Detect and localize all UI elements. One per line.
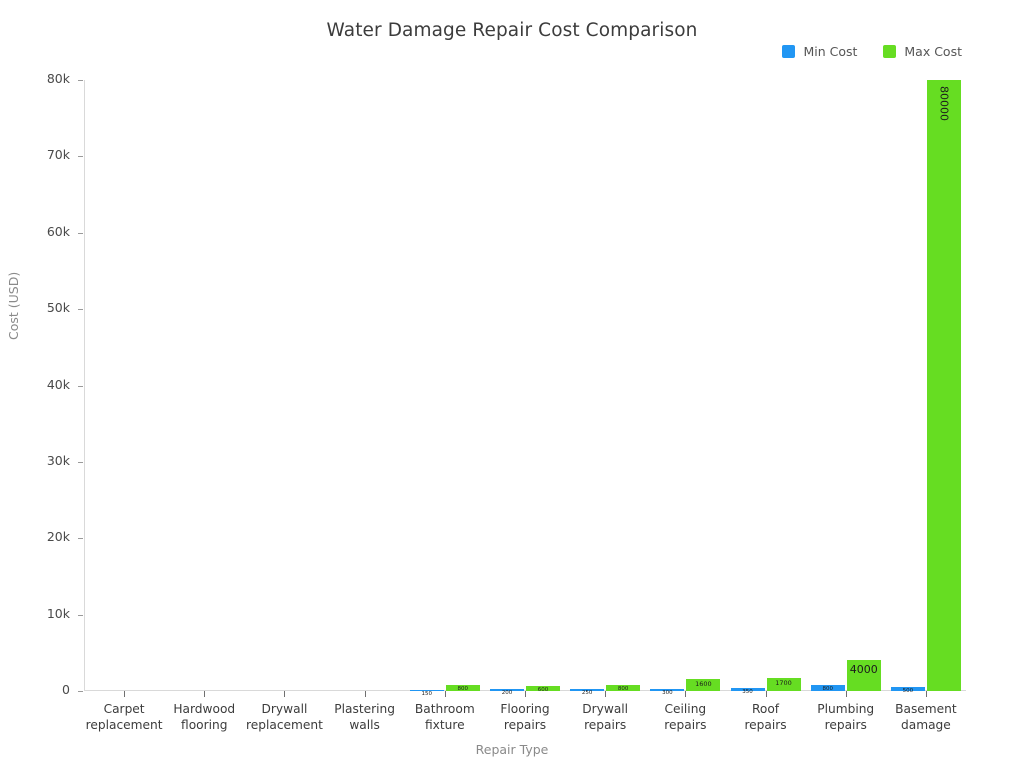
bar-value-label: 800 <box>822 687 833 693</box>
x-axis-tick-mark <box>445 691 446 697</box>
y-axis-tick-mark <box>78 309 83 310</box>
x-axis-tick-mark <box>124 691 125 697</box>
x-axis-tick-mark <box>605 691 606 697</box>
legend-swatch-max-cost <box>883 45 896 58</box>
y-axis-tick-label: 0 <box>62 682 70 697</box>
y-axis-tick-mark <box>78 386 83 387</box>
bar-group-bars <box>244 80 324 691</box>
bar-value-label: 800 <box>618 687 629 693</box>
y-axis-tick-label: 70k <box>47 147 70 162</box>
bar-group <box>164 80 244 691</box>
x-axis-tick-mark <box>846 691 847 697</box>
legend-label-min-cost: Min Cost <box>803 44 857 59</box>
bar-group: 8004000 <box>806 80 886 691</box>
bar-min-cost[interactable]: 500 <box>891 687 925 691</box>
x-axis-tick-mark <box>685 691 686 697</box>
bar-value-label: 150 <box>422 692 433 698</box>
y-axis-tick-label: 30k <box>47 453 70 468</box>
bar-group-bars <box>325 80 405 691</box>
bar-max-cost[interactable]: 1600 <box>686 679 720 691</box>
bar-value-label: 250 <box>582 691 593 697</box>
y-axis-tick-label: 40k <box>47 377 70 392</box>
bar-min-cost[interactable]: 300 <box>650 689 684 691</box>
y-axis-tick-label: 20k <box>47 529 70 544</box>
y-axis-tick-mark <box>78 538 83 539</box>
x-axis-tick-mark <box>365 691 366 697</box>
legend-item-max-cost[interactable]: Max Cost <box>883 44 962 59</box>
y-axis-tick-mark <box>78 233 83 234</box>
bar-value-label: 300 <box>662 691 673 697</box>
bar-value-label: 200 <box>502 691 513 697</box>
bar-max-cost[interactable]: 600 <box>526 686 560 691</box>
bar-value-label: 800 <box>458 687 469 693</box>
y-axis-tick-label: 10k <box>47 606 70 621</box>
bar-max-cost[interactable]: 80000 <box>927 80 961 691</box>
bar-group: 50080000 <box>886 80 966 691</box>
legend-item-min-cost[interactable]: Min Cost <box>782 44 857 59</box>
bar-group: 250800 <box>565 80 645 691</box>
y-axis-tick-mark <box>78 462 83 463</box>
bar-min-cost[interactable]: 350 <box>731 688 765 691</box>
bar-group: 150800 <box>405 80 485 691</box>
y-axis-tick-mark <box>78 80 83 81</box>
x-axis-tick-mark <box>204 691 205 697</box>
bar-group-bars: 3001600 <box>645 80 725 691</box>
y-axis-tick-mark <box>78 691 83 692</box>
plot-area: 010k20k30k40k50k60k70k80kCarpet replacem… <box>84 80 966 691</box>
bar-group-bars: 3501700 <box>725 80 805 691</box>
bar-group-bars: 250800 <box>565 80 645 691</box>
bar-value-label: 1700 <box>775 680 792 687</box>
bar-group-bars: 200600 <box>485 80 565 691</box>
bar-max-cost[interactable]: 4000 <box>847 660 881 691</box>
bar-value-label: 4000 <box>850 664 878 675</box>
bar-value-label: 500 <box>903 689 914 695</box>
bar-max-cost[interactable]: 800 <box>446 685 480 691</box>
bar-group-bars <box>84 80 164 691</box>
y-axis-tick-label: 80k <box>47 71 70 86</box>
bar-group: 200600 <box>485 80 565 691</box>
x-axis-title: Repair Type <box>0 742 1024 757</box>
chart-title: Water Damage Repair Cost Comparison <box>0 20 1024 41</box>
chart-container: Water Damage Repair Cost Comparison Min … <box>0 0 1024 768</box>
y-axis-tick-mark <box>78 615 83 616</box>
y-axis-tick-mark <box>78 156 83 157</box>
y-axis-title: Cost (USD) <box>6 272 21 340</box>
x-axis-tick-mark <box>766 691 767 697</box>
bar-min-cost[interactable]: 150 <box>410 690 444 691</box>
bar-min-cost[interactable]: 200 <box>490 689 524 691</box>
bar-group: 3501700 <box>725 80 805 691</box>
legend-swatch-min-cost <box>782 45 795 58</box>
bar-group <box>84 80 164 691</box>
bar-min-cost[interactable]: 800 <box>811 685 845 691</box>
bar-max-cost[interactable]: 1700 <box>767 678 801 691</box>
x-axis-tick-mark <box>926 691 927 697</box>
bar-min-cost[interactable]: 250 <box>570 689 604 691</box>
bar-value-label: 80000 <box>938 86 949 121</box>
bar-group-bars: 50080000 <box>886 80 966 691</box>
bar-group: 3001600 <box>645 80 725 691</box>
bar-value-label: 1600 <box>695 681 712 688</box>
bar-group-bars: 8004000 <box>806 80 886 691</box>
bar-group-bars: 150800 <box>405 80 485 691</box>
y-axis-tick-label: 50k <box>47 300 70 315</box>
bar-group <box>244 80 324 691</box>
x-axis-tick-mark <box>525 691 526 697</box>
x-axis-tick-mark <box>284 691 285 697</box>
bar-max-cost[interactable]: 800 <box>606 685 640 691</box>
chart-legend: Min Cost Max Cost <box>782 44 962 59</box>
bar-group-bars <box>164 80 244 691</box>
bar-value-label: 350 <box>742 690 753 696</box>
bar-group <box>325 80 405 691</box>
y-axis-tick-label: 60k <box>47 224 70 239</box>
legend-label-max-cost: Max Cost <box>904 44 962 59</box>
x-axis-category-label: Basement damage <box>874 701 978 733</box>
bar-value-label: 600 <box>538 688 549 694</box>
